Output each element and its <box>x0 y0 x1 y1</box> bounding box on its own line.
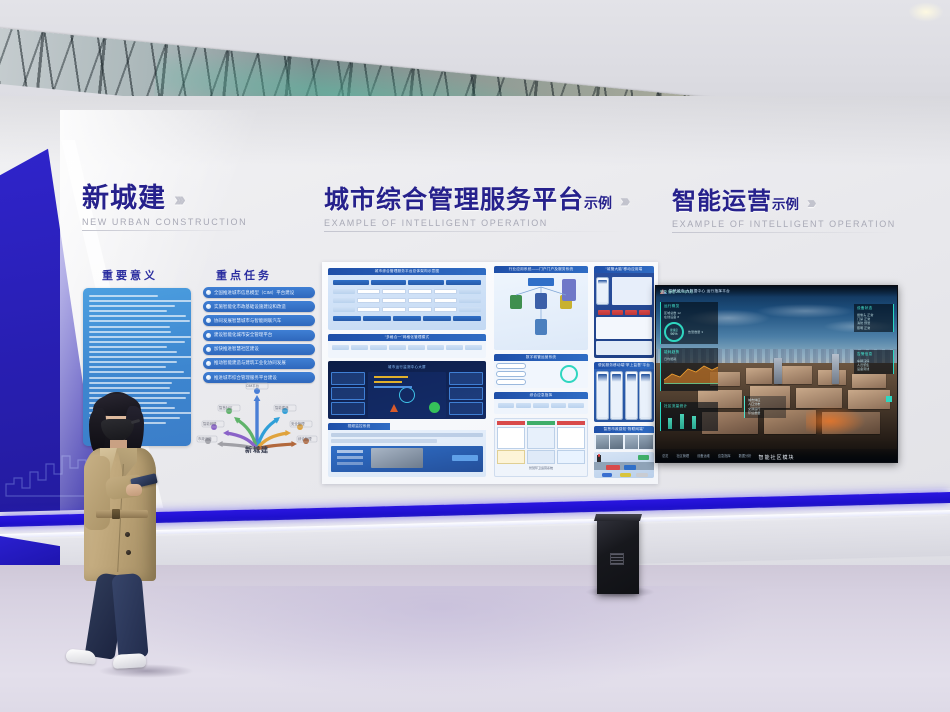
task-item: 协同发展智慧城市与智能网联汽车 <box>203 315 315 326</box>
task-label: 协同发展智慧城市与智能网联汽车 <box>214 318 281 324</box>
poster-block-body <box>594 273 654 358</box>
poster-block-grid-mgmt: “多格合一”网格化管理模式 <box>328 334 486 358</box>
poster-block-mobile-brain: “城管大脑”移动应用端 <box>594 266 654 358</box>
coat-button <box>126 550 131 555</box>
poster-block-body <box>328 275 486 330</box>
poster-block-body <box>594 433 654 450</box>
poster-block-title: 便民服务移动端“掌上监督”平台 <box>594 362 654 369</box>
floor-light-reflection <box>120 586 760 696</box>
heading-cn-suffix: 示例 <box>584 195 612 211</box>
arrow-diagram-center-label: 新城建 <box>245 445 269 455</box>
poster-block-title: “城管大脑”移动应用端 <box>594 266 654 273</box>
paragraph-line <box>89 377 191 379</box>
dashboard-title: 城市运行监测中心大屏 <box>331 364 483 369</box>
task-label: 推进城市综合管理服务平台建设 <box>214 375 277 381</box>
task-list: 全国推进城市信息模型（CIM）平台建设实施智能化市政基础设施建设和改造协同发展智… <box>203 287 315 386</box>
task-label: 实施智能化市政基础设施建设和改造 <box>214 304 286 310</box>
paragraph-line <box>89 366 166 368</box>
paragraph-line <box>89 305 175 307</box>
poster-block-sanitation: 智慧环卫运营系统 <box>494 418 588 477</box>
arrow-branch-label: CIM平台 <box>246 383 259 388</box>
led-screen-caption: 智能社区模块 <box>656 454 897 461</box>
lens-glare <box>908 2 944 22</box>
arrow-branch-label: 智能建造 <box>275 405 289 410</box>
poster-block-command-dashboard: 城市运行监测中心大屏 <box>328 361 486 419</box>
heading-rule <box>82 230 247 231</box>
bullet-icon <box>206 375 211 380</box>
paragraph-line <box>89 341 185 343</box>
task-label: 加快推进智慧社区建设 <box>214 346 259 352</box>
poster-block-body <box>494 399 588 414</box>
poster-block-body <box>594 369 654 422</box>
center-poster-board: 城市综合管理服务平台总体架构示意图 行业应用系统——门户门户及服务系统 <box>322 262 658 484</box>
led-panel-flow: 社区流量统计 <box>660 402 718 431</box>
bullet-icon <box>206 290 211 295</box>
poster-block-body <box>494 361 588 388</box>
person-shadow <box>98 664 194 678</box>
heading-en: EXAMPLE OF INTELLIGENT OPERATION <box>672 219 896 229</box>
poster-block-mobile-supervision: 便民服务移动端“掌上监督”平台 <box>594 362 654 422</box>
paragraph-line <box>89 361 177 363</box>
poster-block-title: 视频监控系统 <box>328 423 390 430</box>
paragraph-line <box>89 387 170 389</box>
paragraph-line <box>89 310 167 312</box>
poster-block-video: 视频监控系统 <box>328 423 486 477</box>
belt-buckle <box>112 509 120 519</box>
heading-rule <box>672 232 896 233</box>
heading-en: NEW URBAN CONSTRUCTION <box>82 217 247 227</box>
arrow-branch-label: 市政设施 <box>198 436 212 441</box>
arrow-diagram: CIM平台 智慧社区 智能建造 智能网联 安全管理 市政设施 综合管理 新城建 <box>196 381 318 453</box>
led-top-right-info: 登录 管理 2024年3月 <box>660 289 693 294</box>
bullet-icon <box>206 333 211 338</box>
paragraph-line <box>89 346 167 348</box>
poster-block-title: 智慧市政感知“物联网端” <box>594 426 654 433</box>
heading-en: EXAMPLE OF INTELLIGENT OPERATION <box>324 218 627 228</box>
arrow-branch-label: 综合管理 <box>298 436 312 441</box>
paragraph-line <box>89 351 177 353</box>
arrow-diagram-svg <box>196 381 318 453</box>
task-item: 实施智能化市政基础设施建设和改造 <box>203 301 315 312</box>
chevron-right-icon: ››› <box>620 192 626 211</box>
bar-south <box>692 416 696 429</box>
led-top-bar: 智慧城市 大数据中心 运行指挥平台 登录 管理 2024年3月 <box>656 286 897 297</box>
phone-mockup <box>610 371 623 420</box>
paragraph-line <box>89 315 186 317</box>
leg-front <box>111 573 148 659</box>
bullet-icon <box>206 361 211 366</box>
speaker-top-face <box>594 514 642 521</box>
chevron-right-icon: ››› <box>807 194 813 212</box>
led-panel-device-status: 设备状态 摄像头 正常 门禁 正常 消防 预警 照明 正常 <box>854 304 894 332</box>
led-panel-overview: 运行概览 区域总数 12 在线设备 8 健康度 96% 告警数量 3 <box>660 302 718 344</box>
shoe-right <box>113 653 147 669</box>
visitor-person <box>68 392 186 692</box>
status-indicator <box>886 396 892 402</box>
coat-belt <box>96 510 148 518</box>
arrow-branch-label: 智能网联 <box>203 421 217 426</box>
arrow-branch-label: 智慧社区 <box>219 405 233 410</box>
arrow-branch-label: 安全管理 <box>291 421 305 426</box>
heading-city-management-platform: 城市综合管理服务平台示例››› EXAMPLE OF INTELLIGENT O… <box>324 188 627 232</box>
section-title-significance: 重要意义 <box>102 267 158 283</box>
exhibition-booth-photo: 新城建››› NEW URBAN CONSTRUCTION 城市综合管理服务平台… <box>0 0 950 712</box>
paragraph-line <box>89 320 190 322</box>
heading-new-urban-construction: 新城建››› NEW URBAN CONSTRUCTION <box>82 185 247 231</box>
poster-block-smart-road <box>594 452 654 478</box>
phone-mockup <box>596 277 609 305</box>
heading-cn: 新城建››› <box>82 185 247 212</box>
paragraph-line <box>89 300 191 302</box>
paragraph-line <box>89 382 172 384</box>
task-label: 建设智能化城市安全管理平台 <box>214 332 272 338</box>
task-item: 推动智能建造与建筑工业化协同发展 <box>203 358 315 369</box>
bar-west <box>680 414 684 429</box>
led-panel-center-list: 城市体征 人口分布 交通运行 环境质量 <box>744 396 786 418</box>
poster-block-digital-city: 数字城管运营系统 <box>494 354 588 388</box>
energy-area-chart <box>664 362 718 384</box>
paragraph-line <box>89 326 170 328</box>
poster-block-body <box>494 273 588 350</box>
poster-block-portal: 行业应用系统——门户门户及服务系统 <box>494 266 588 350</box>
paragraph-line <box>89 371 184 373</box>
speaker-grille-icon <box>610 553 624 565</box>
poster-block-title: 智慧环卫运营系统 <box>495 466 587 470</box>
hand <box>126 484 142 496</box>
poster-block-title: 数字城管运营系统 <box>494 354 588 361</box>
paragraph-line <box>89 331 171 333</box>
task-item: 加快推进智慧社区建设 <box>203 344 315 355</box>
task-item: 全国推进城市信息模型（CIM）平台建设 <box>203 287 315 298</box>
poster-block-iot: 智慧市政感知“物联网端” <box>594 426 654 450</box>
poster-block-title: “多格合一”网格化管理模式 <box>328 334 486 341</box>
phone-mockup <box>596 371 609 420</box>
trousers <box>91 574 153 658</box>
stage-speaker <box>597 519 639 594</box>
led-video-wall: 智慧城市 大数据中心 运行指挥平台 登录 管理 2024年3月 运行概览 区域总… <box>655 285 898 463</box>
flow-bar-chart <box>664 411 715 429</box>
phone-mockup <box>625 371 638 420</box>
poster-block-body <box>328 341 486 358</box>
bullet-icon <box>206 318 211 323</box>
heading-intelligent-operation: 智能运营示例››› EXAMPLE OF INTELLIGENT OPERATI… <box>672 190 896 233</box>
coat-button <box>125 532 130 537</box>
section-title-tasks: 重点任务 <box>216 267 272 283</box>
poster-block-architecture: 城市综合管理服务平台总体架构示意图 <box>328 268 486 330</box>
poster-block-title: 综合应急指挥 <box>494 392 588 399</box>
poster-block-title: 城市综合管理服务平台总体架构示意图 <box>328 268 486 275</box>
heading-cn-suffix: 示例 <box>772 197 799 212</box>
heading-rule <box>324 231 627 232</box>
heading-cn: 智能运营示例››› <box>672 190 896 214</box>
poster-block-body <box>328 430 486 477</box>
poster-block-title: 行业应用系统——门户门户及服务系统 <box>494 266 588 273</box>
chevron-right-icon: ››› <box>174 190 182 210</box>
phone-mockup <box>639 371 652 420</box>
heading-cn: 城市综合管理服务平台示例››› <box>324 188 627 213</box>
bullet-icon <box>206 347 211 352</box>
paragraph-line <box>89 295 158 297</box>
bullet-icon <box>206 304 211 309</box>
led-panel-energy: 能耗趋势 日均能耗 <box>660 348 718 391</box>
bar-east <box>668 418 672 429</box>
task-label: 推动智能建造与建筑工业化协同发展 <box>214 360 286 366</box>
task-item: 建设智能化城市安全管理平台 <box>203 330 315 341</box>
paragraph-line <box>89 356 191 358</box>
task-label: 全国推进城市信息模型（CIM）平台建设 <box>214 290 294 296</box>
health-gauge: 健康度 96% <box>664 322 684 342</box>
paragraph-line <box>89 336 191 338</box>
led-panel-alarms: 告警信息 车辆违停 人员聚集 设备离线 <box>854 350 894 374</box>
wall-top-shadow <box>0 96 950 166</box>
poster-block-emergency: 综合应急指挥 <box>494 392 588 414</box>
